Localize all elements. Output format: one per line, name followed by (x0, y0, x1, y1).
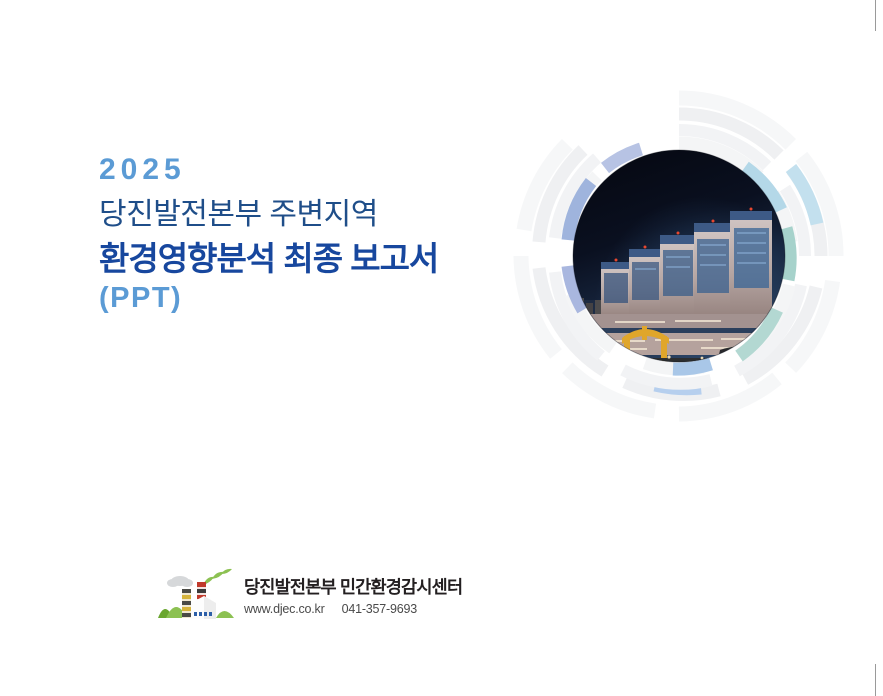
report-cover-page: 2025 당진발전본부 주변지역 환경영향분석 최종 보고서 (PPT) (0, 0, 883, 696)
organization-name: 당진발전본부 민간환경감시센터 (244, 577, 462, 599)
factory-logo-icon (158, 568, 234, 624)
footer-logo-lockup: 당진발전본부 민간환경감시센터 www.djec.co.kr 041-357-9… (158, 568, 462, 624)
smokestack-yellow (182, 589, 191, 618)
phone-text: 041-357-9693 (342, 602, 417, 617)
factory-building (191, 596, 216, 619)
title-subtitle: 당진발전본부 주변지역 (99, 194, 529, 235)
page-title: 환경영향분석 최종 보고서 (99, 238, 529, 279)
title-year: 2025 (99, 150, 529, 190)
circular-emblem (505, 82, 853, 430)
page-edge-line-bottom (875, 664, 876, 696)
organization-contact: www.djec.co.kr 041-357-9693 (244, 602, 462, 617)
title-block: 2025 당진발전본부 주변지역 환경영향분석 최종 보고서 (PPT) (99, 150, 529, 316)
logo-text-block: 당진발전본부 민간환경감시센터 www.djec.co.kr 041-357-9… (244, 575, 462, 618)
cloud-icon (167, 576, 193, 587)
website-text: www.djec.co.kr (244, 602, 325, 617)
title-format: (PPT) (99, 281, 529, 316)
leaf-icon (203, 569, 232, 585)
page-edge-line-top (875, 0, 876, 31)
